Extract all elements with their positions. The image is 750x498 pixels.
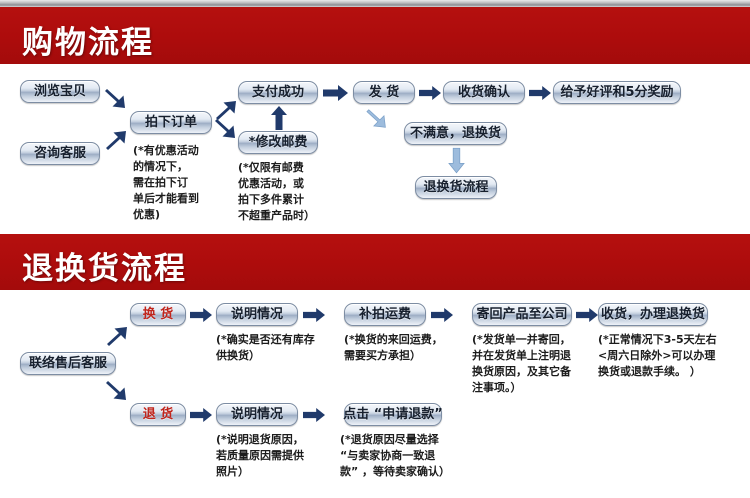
node-exchange-explain[interactable]: 说明情况 — [216, 303, 298, 326]
top-silver-strip — [0, 0, 750, 7]
note-apply-refund: (*退货原因尽量选择 “与卖家协商一致退 款” ，等待卖家确认） — [340, 432, 470, 480]
node-give-review[interactable]: 给予好评和5分奖励 — [553, 81, 681, 104]
node-extra-shipping-fee[interactable]: 补拍运费 — [344, 303, 426, 326]
node-browse-product[interactable]: 浏览宝贝 — [20, 80, 100, 103]
node-unsatisfied-return[interactable]: 不满意，退换货 — [404, 122, 507, 145]
note-extra-shipping-fee: (*换货的来回运费， 需要买方承担） — [344, 332, 456, 364]
note-modify-shipping-fee: (*仅限有邮费 优惠活动，或 拍下多件累计 不超重产品时） — [238, 160, 334, 224]
node-contact-after-sales[interactable]: 联络售后客服 — [20, 352, 116, 375]
note-refund-explain: (*说明退货原因， 若质量原因需提供 照片） — [216, 432, 328, 480]
arrow-browse-to-order — [104, 86, 130, 112]
node-confirm-receipt[interactable]: 收货确认 — [443, 81, 525, 104]
node-pay-success[interactable]: 支付成功 — [238, 81, 318, 104]
arrow-sendback-to-receive — [576, 307, 598, 323]
note-send-back-to-company: (*发货单一并寄回， 并在发货单上注明退 换货原因，及其它备 注事项。） — [472, 332, 584, 396]
arrow-modifyfee-to-paysuccess — [270, 106, 288, 130]
node-ship-goods[interactable]: 发 货 — [353, 81, 415, 104]
arrow-unsatisfied-to-returnflow — [448, 148, 465, 173]
arrow-contact-to-exchange — [105, 322, 131, 348]
arrow-extrafee-to-sendback — [431, 307, 453, 323]
note-receive-and-process: (*正常情况下3-5天左右 <周六日除外>可以办理 换货或退款手续。 ） — [598, 332, 738, 380]
section2-title: 退换货流程 — [22, 243, 187, 288]
node-refund[interactable]: 退 货 — [130, 403, 186, 426]
arrow-explain-to-applyrefund — [303, 407, 325, 423]
section1-title: 购物流程 — [22, 17, 154, 62]
arrow-ship-to-unsatisfied — [366, 107, 390, 131]
note-place-order: (*有优惠活动 的情况下， 需在拍下订 单后才能看到 优惠) — [133, 143, 219, 223]
arrow-ship-to-confirm — [419, 85, 441, 101]
arrow-consult-to-order — [104, 126, 130, 152]
node-place-order[interactable]: 拍下订单 — [130, 111, 212, 134]
note-exchange-explain: (*确实是否还有库存 供换货） — [216, 332, 328, 364]
node-consult-service[interactable]: 咨询客服 — [20, 142, 100, 165]
arrow-exchange-to-explain — [190, 307, 212, 323]
node-send-back-to-company[interactable]: 寄回产品至公司 — [472, 303, 572, 326]
arrow-contact-to-refund — [105, 378, 131, 404]
node-apply-refund[interactable]: 点击 “申请退款” — [344, 403, 442, 426]
node-exchange[interactable]: 换 货 — [130, 303, 186, 326]
arrow-refund-to-explain — [190, 407, 212, 423]
arrow-paysuccess-to-ship — [323, 85, 348, 101]
shopping-flow-infographic: 购物流程 浏览宝贝 咨询客服 拍下订单 支付成功 *修改邮费 发 货 收货确认 … — [0, 0, 750, 498]
node-return-exchange-flow[interactable]: 退换货流程 — [415, 176, 497, 199]
node-receive-and-process[interactable]: 收货，办理退换货 — [598, 303, 708, 326]
arrow-order-to-modifyfee — [214, 116, 240, 142]
arrow-explain-to-extrafee — [303, 307, 325, 323]
node-refund-explain[interactable]: 说明情况 — [216, 403, 298, 426]
node-modify-shipping-fee[interactable]: *修改邮费 — [238, 131, 318, 154]
arrow-confirm-to-review — [529, 85, 551, 101]
